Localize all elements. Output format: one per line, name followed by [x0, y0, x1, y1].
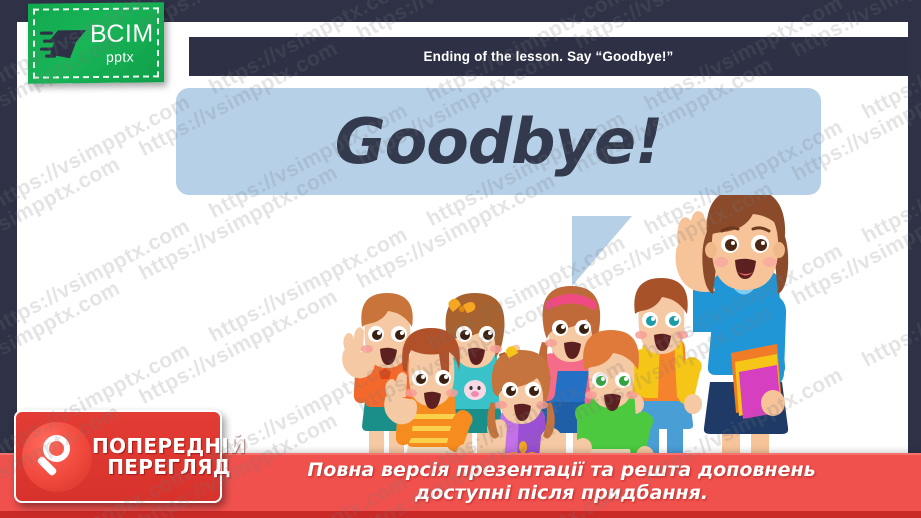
slide-header-title: Ending of the lesson. Say “Goodbye!”: [424, 49, 674, 64]
speech-bubble-text: Goodbye!: [176, 88, 821, 195]
logo-extension-text: pptx: [106, 49, 154, 63]
teacher-figure: [676, 188, 789, 479]
speech-bubble: Goodbye!: [176, 88, 821, 195]
graduation-cap-icon: [40, 20, 88, 67]
preview-badge-line1: ПОПЕРЕДНІЙ: [92, 434, 246, 458]
purchase-notice-line2: доступні після придбання.: [210, 482, 913, 505]
slide-header-bar: Ending of the lesson. Say “Goodbye!”: [189, 37, 908, 76]
logo-brand-text: ВСІМ: [90, 21, 154, 47]
vsimpptx-logo[interactable]: ВСІМ pptx: [28, 2, 164, 83]
purchase-notice-text: Повна версія презентації та решта доповн…: [210, 459, 913, 505]
purchase-notice-line1: Повна версія презентації та решта доповн…: [210, 459, 913, 482]
magnifier-icon: [22, 422, 92, 492]
preview-badge[interactable]: ПОПЕРЕДНІЙ ПЕРЕГЛЯД: [14, 410, 222, 503]
slide-canvas: Goodbye! Ending of the lesson. Say “Good…: [0, 0, 921, 518]
preview-badge-label: ПОПЕРЕДНІЙ ПЕРЕГЛЯД: [92, 436, 252, 478]
speech-bubble-tail: [572, 216, 632, 286]
preview-badge-line2: ПЕРЕГЛЯД: [92, 457, 246, 478]
